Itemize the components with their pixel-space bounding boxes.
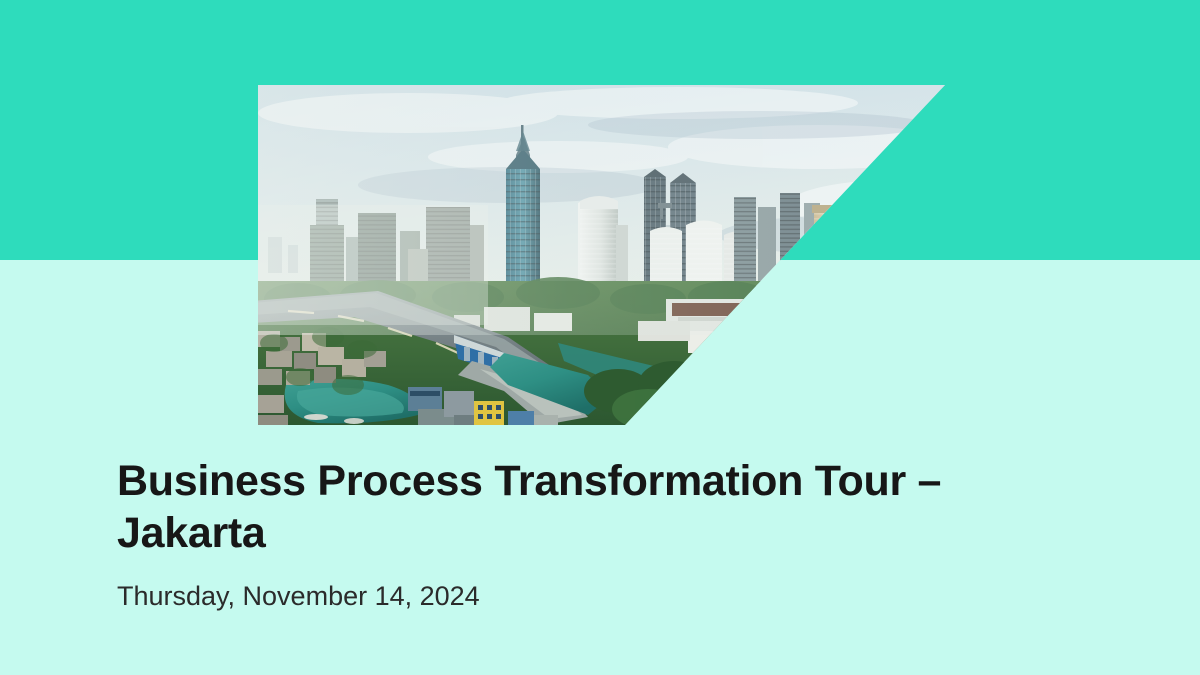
event-date: Thursday, November 14, 2024 bbox=[117, 559, 1077, 613]
text-block: Business Process Transformation Tour – J… bbox=[117, 455, 1077, 613]
slide-canvas: Business Process Transformation Tour – J… bbox=[0, 0, 1200, 675]
page-title: Business Process Transformation Tour – J… bbox=[117, 455, 1017, 559]
